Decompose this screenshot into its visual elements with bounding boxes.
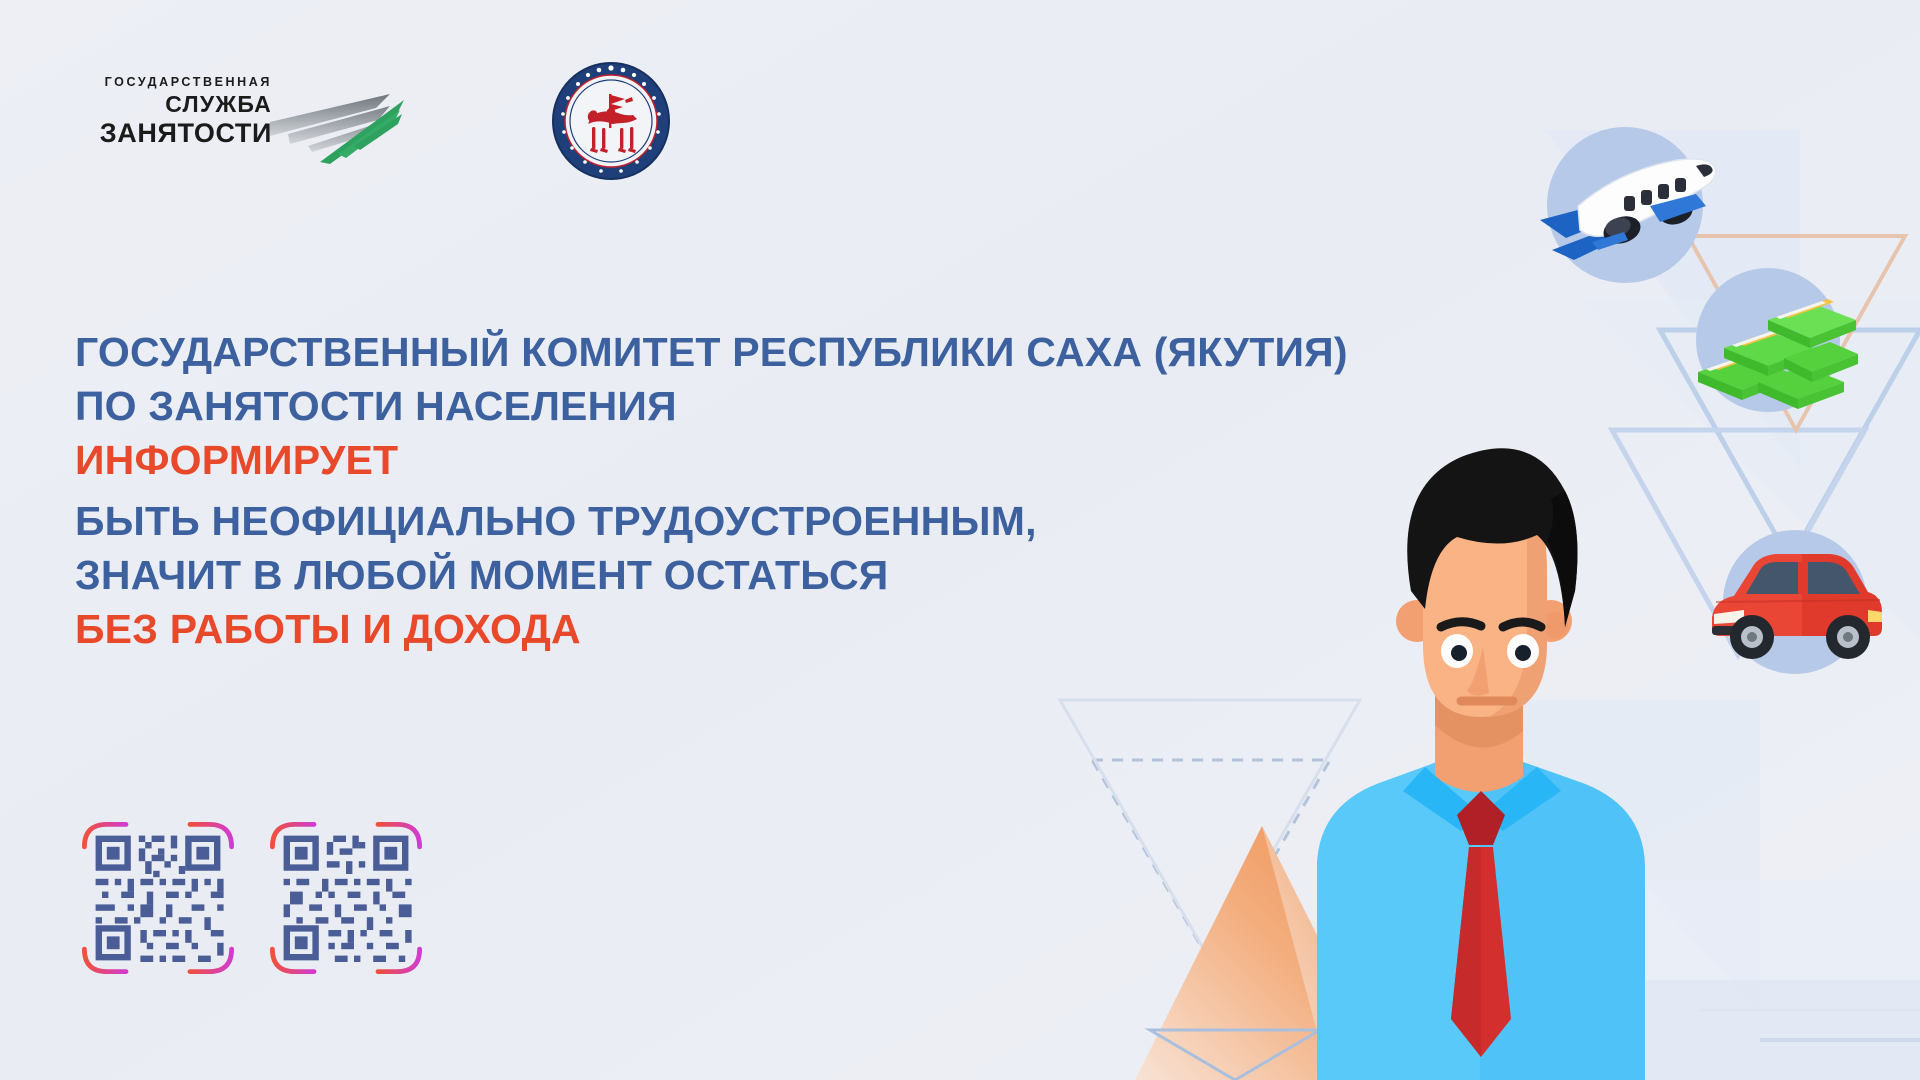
headline-line-3: ИНФОРМИРУЕТ xyxy=(75,438,1255,484)
money-icon xyxy=(1668,248,1868,433)
logo-row: ГОСУДАРСТВЕННАЯ СЛУЖБА ЗАНЯТОСТИ xyxy=(72,62,670,180)
qr-code-right[interactable] xyxy=(266,818,426,978)
logo-line-1: ГОСУДАРСТВЕННАЯ xyxy=(72,76,272,89)
employment-service-swoosh-icon xyxy=(268,88,408,166)
employment-service-wordmark: ГОСУДАРСТВЕННАЯ СЛУЖБА ЗАНЯТОСТИ xyxy=(72,76,272,148)
qr-code-row xyxy=(78,818,426,978)
gosudarstvennaya-sluzhba-zanyatosti-logo: ГОСУДАРСТВЕННАЯ СЛУЖБА ЗАНЯТОСТИ xyxy=(72,76,402,166)
car-icon xyxy=(1690,510,1900,695)
logo-line-3: ЗАНЯТОСТИ xyxy=(72,118,272,148)
logo-line-2: СЛУЖБА xyxy=(72,91,272,117)
headline-line-2: ПО ЗАНЯТОСТИ НАСЕЛЕНИЯ xyxy=(75,384,1255,430)
headline-line-5: ЗНАЧИТ В ЛЮБОЙ МОМЕНТ ОСТАТЬСЯ xyxy=(75,553,1255,599)
poster-canvas: ГОСУДАРСТВЕННАЯ СЛУЖБА ЗАНЯТОСТИ xyxy=(0,0,1920,1080)
sakha-republic-emblem xyxy=(552,62,670,180)
headline-block: ГОСУДАРСТВЕННЫЙ КОМИТЕТ РЕСПУБЛИКИ САХА … xyxy=(75,330,1255,660)
headline-line-4: БЫТЬ НЕОФИЦИАЛЬНО ТРУДОУСТРОЕННЫМ, xyxy=(75,499,1255,545)
headline-line-1: ГОСУДАРСТВЕННЫЙ КОМИТЕТ РЕСПУБЛИКИ САХА … xyxy=(75,330,1255,376)
businessman-character xyxy=(1265,395,1685,1080)
qr-code-left[interactable] xyxy=(78,818,238,978)
headline-line-6: БЕЗ РАБОТЫ И ДОХОДА xyxy=(75,607,1255,653)
